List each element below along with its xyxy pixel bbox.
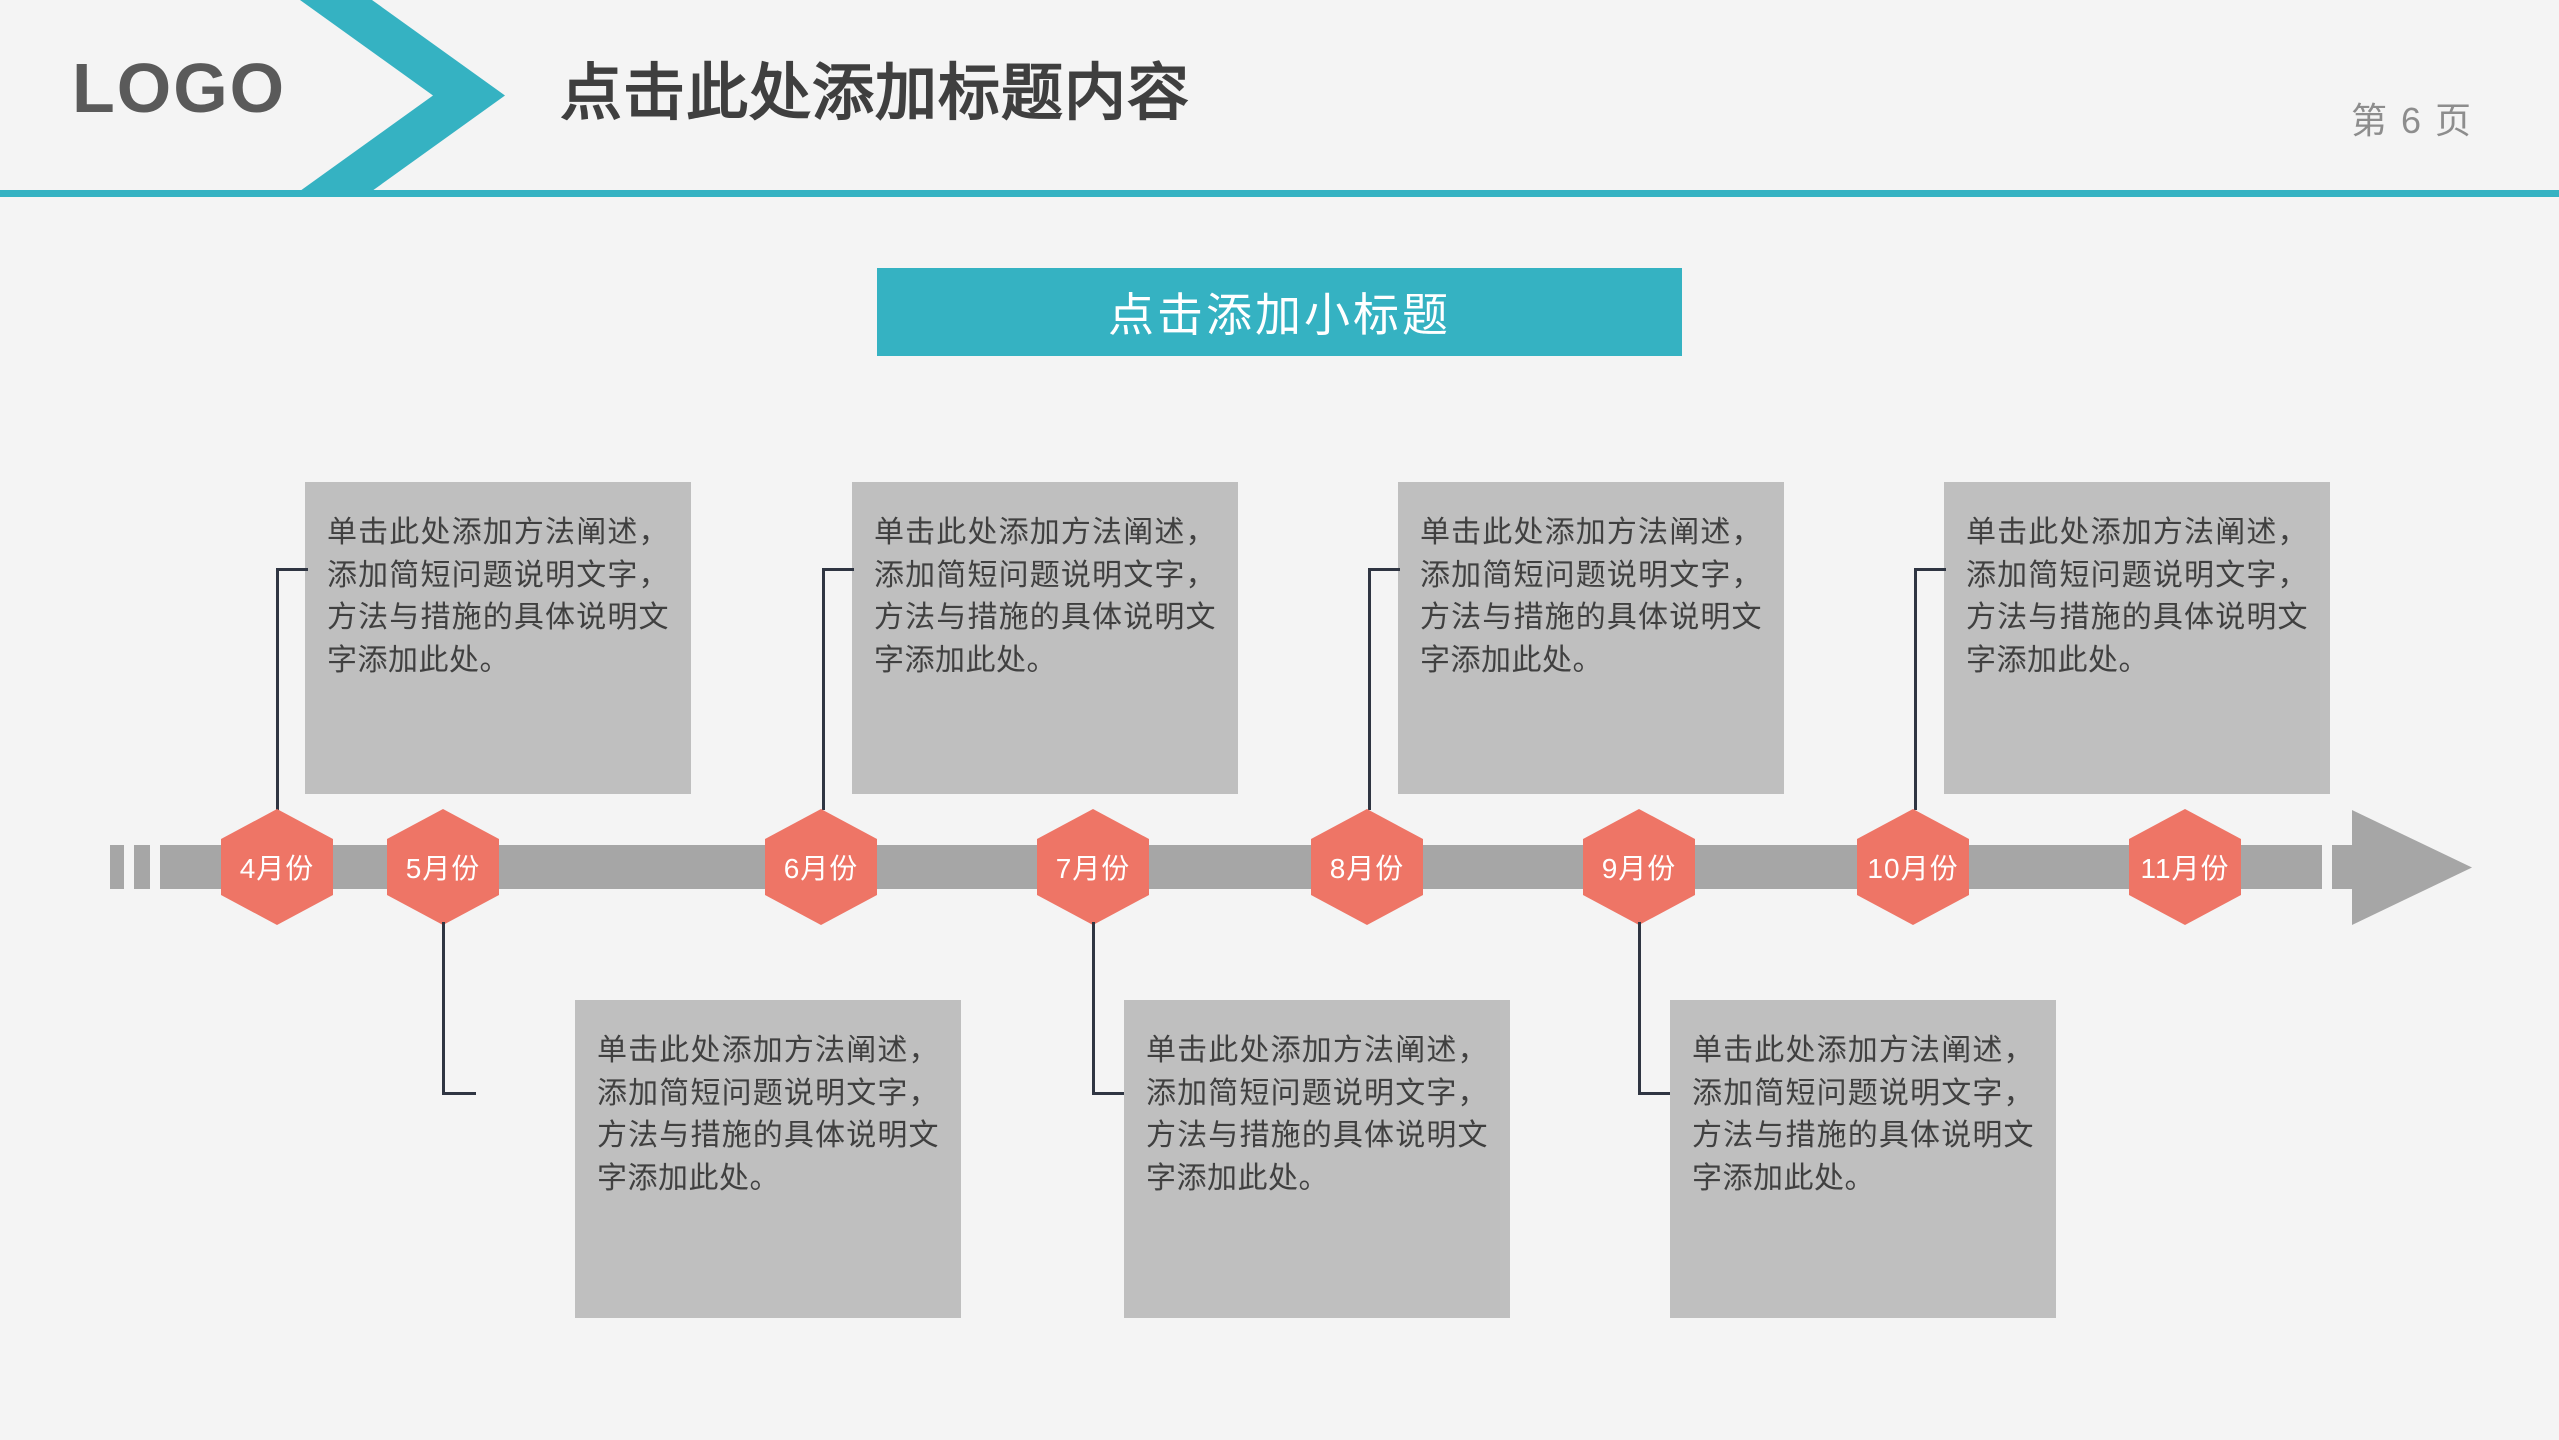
connector-top-1-horizontal	[276, 568, 308, 571]
timeline-dash-4	[2268, 845, 2322, 889]
connector-top-4-vertical	[1914, 568, 1917, 810]
logo-text: LOGO	[72, 48, 286, 128]
timeline-marker-label: 4月份	[221, 809, 333, 925]
timeline-marker-label: 7月份	[1037, 809, 1149, 925]
timeline-card-text: 单击此处添加方法阐述，添加简短问题说明文字，方法与措施的具体说明文字添加此处。	[1966, 512, 2308, 682]
timeline-card-top-1[interactable]: 单击此处添加方法阐述，添加简短问题说明文字，方法与措施的具体说明文字添加此处。	[305, 482, 691, 794]
timeline-marker-label: 10月份	[1857, 809, 1969, 925]
timeline-marker-1[interactable]: 4月份	[221, 809, 333, 925]
timeline-marker-4[interactable]: 7月份	[1037, 809, 1149, 925]
timeline-track	[185, 845, 2305, 889]
timeline-marker-label: 5月份	[387, 809, 499, 925]
timeline-card-bottom-2[interactable]: 单击此处添加方法阐述，添加简短问题说明文字，方法与措施的具体说明文字添加此处。	[1124, 1000, 1510, 1318]
timeline-card-text: 单击此处添加方法阐述，添加简短问题说明文字，方法与措施的具体说明文字添加此处。	[874, 512, 1216, 682]
connector-top-3-vertical	[1368, 568, 1371, 810]
slide-header: LOGO 点击此处添加标题内容 第 6 页	[0, 0, 2559, 196]
timeline-card-text: 单击此处添加方法阐述，添加简短问题说明文字，方法与措施的具体说明文字添加此处。	[597, 1030, 939, 1200]
timeline-card-text: 单击此处添加方法阐述，添加简短问题说明文字，方法与措施的具体说明文字添加此处。	[327, 512, 669, 682]
timeline-card-top-4[interactable]: 单击此处添加方法阐述，添加简短问题说明文字，方法与措施的具体说明文字添加此处。	[1944, 482, 2330, 794]
timeline-dash-2	[134, 845, 150, 889]
timeline-marker-label: 9月份	[1583, 809, 1695, 925]
timeline-marker-3[interactable]: 6月份	[765, 809, 877, 925]
timeline-card-bottom-1[interactable]: 单击此处添加方法阐述，添加简短问题说明文字，方法与措施的具体说明文字添加此处。	[575, 1000, 961, 1318]
connector-top-1-vertical	[276, 568, 279, 810]
slide-canvas: LOGO 点击此处添加标题内容 第 6 页 点击添加小标题 单击此处添加方法阐述…	[0, 0, 2559, 1440]
timeline-marker-label: 6月份	[765, 809, 877, 925]
connector-top-2-vertical	[822, 568, 825, 810]
timeline-marker-label: 8月份	[1311, 809, 1423, 925]
timeline-marker-2[interactable]: 5月份	[387, 809, 499, 925]
connector-bottom-1-vertical	[442, 922, 445, 1094]
connector-bottom-2-vertical	[1092, 922, 1095, 1094]
timeline-marker-7[interactable]: 10月份	[1857, 809, 1969, 925]
timeline-marker-6[interactable]: 9月份	[1583, 809, 1695, 925]
connector-bottom-3-vertical	[1638, 922, 1641, 1094]
connector-top-2-horizontal	[822, 568, 854, 571]
chevron-icon	[300, 0, 550, 191]
subtitle-banner[interactable]: 点击添加小标题	[877, 268, 1682, 356]
timeline-card-bottom-3[interactable]: 单击此处添加方法阐述，添加简短问题说明文字，方法与措施的具体说明文字添加此处。	[1670, 1000, 2056, 1318]
connector-top-3-horizontal	[1368, 568, 1400, 571]
timeline-axis: 4月份 5月份 6月份 7月份 8月份	[0, 800, 2559, 980]
page-title: 点击此处添加标题内容	[560, 42, 1190, 132]
connector-bottom-3-horizontal	[1638, 1092, 1672, 1095]
header-divider	[0, 190, 2559, 197]
connector-top-4-horizontal	[1914, 568, 1946, 571]
connector-bottom-2-horizontal	[1092, 1092, 1126, 1095]
timeline-arrow-icon	[2352, 810, 2472, 925]
subtitle-banner-label: 点击添加小标题	[1108, 279, 1451, 345]
timeline-card-top-2[interactable]: 单击此处添加方法阐述，添加简短问题说明文字，方法与措施的具体说明文字添加此处。	[852, 482, 1238, 794]
timeline-marker-label: 11月份	[2129, 809, 2241, 925]
timeline-card-text: 单击此处添加方法阐述，添加简短问题说明文字，方法与措施的具体说明文字添加此处。	[1692, 1030, 2034, 1200]
page-number: 第 6 页	[2351, 92, 2473, 144]
timeline-marker-8[interactable]: 11月份	[2129, 809, 2241, 925]
connector-bottom-1-horizontal	[442, 1092, 476, 1095]
timeline-card-top-3[interactable]: 单击此处添加方法阐述，添加简短问题说明文字，方法与措施的具体说明文字添加此处。	[1398, 482, 1784, 794]
timeline-card-text: 单击此处添加方法阐述，添加简短问题说明文字，方法与措施的具体说明文字添加此处。	[1146, 1030, 1488, 1200]
timeline-card-text: 单击此处添加方法阐述，添加简短问题说明文字，方法与措施的具体说明文字添加此处。	[1420, 512, 1762, 682]
timeline-dash-1	[110, 845, 124, 889]
timeline-marker-5[interactable]: 8月份	[1311, 809, 1423, 925]
